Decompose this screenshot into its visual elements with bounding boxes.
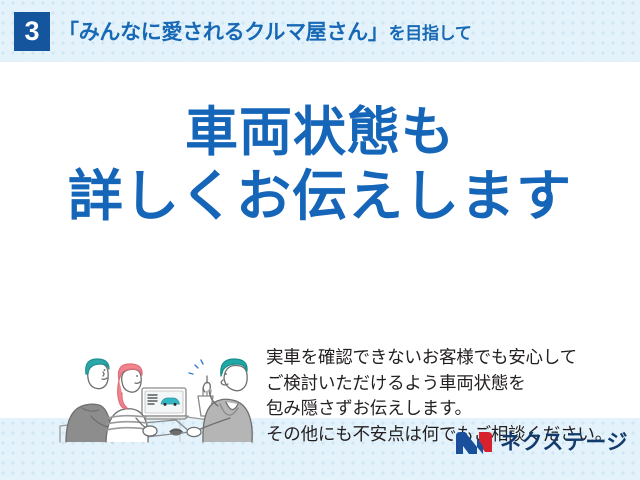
step-number-badge: 3 bbox=[14, 12, 50, 51]
nextage-n-logo-icon bbox=[455, 430, 493, 456]
body-copy-line-1: 実車を確認できないお客様でも安心して bbox=[266, 345, 616, 371]
header-band: 3 「みんなに愛されるクルマ屋さん」を目指して bbox=[0, 0, 640, 62]
advertisement-banner: 3 「みんなに愛されるクルマ屋さん」を目指して 車両状態も 詳しくお伝えします bbox=[0, 0, 640, 480]
footer-band: ネクステージ bbox=[0, 418, 640, 480]
brand-logo-text: ネクステージ bbox=[500, 430, 628, 456]
headline-line-1: 車両状態も bbox=[0, 102, 640, 164]
header-title-suffix: を目指して bbox=[389, 24, 472, 43]
header-title-quoted: 「みんなに愛されるクルマ屋さん」 bbox=[58, 21, 389, 44]
header-title: 「みんなに愛されるクルマ屋さん」を目指して bbox=[58, 16, 472, 46]
headline-line-2: 詳しくお伝えします bbox=[0, 164, 640, 228]
body-copy-line-2: ご検討いただけるよう車両状態を bbox=[266, 371, 616, 397]
headline: 車両状態も 詳しくお伝えします bbox=[0, 102, 640, 228]
content-panel: 車両状態も 詳しくお伝えします bbox=[0, 62, 640, 418]
brand-logo: ネクステージ bbox=[455, 430, 628, 456]
